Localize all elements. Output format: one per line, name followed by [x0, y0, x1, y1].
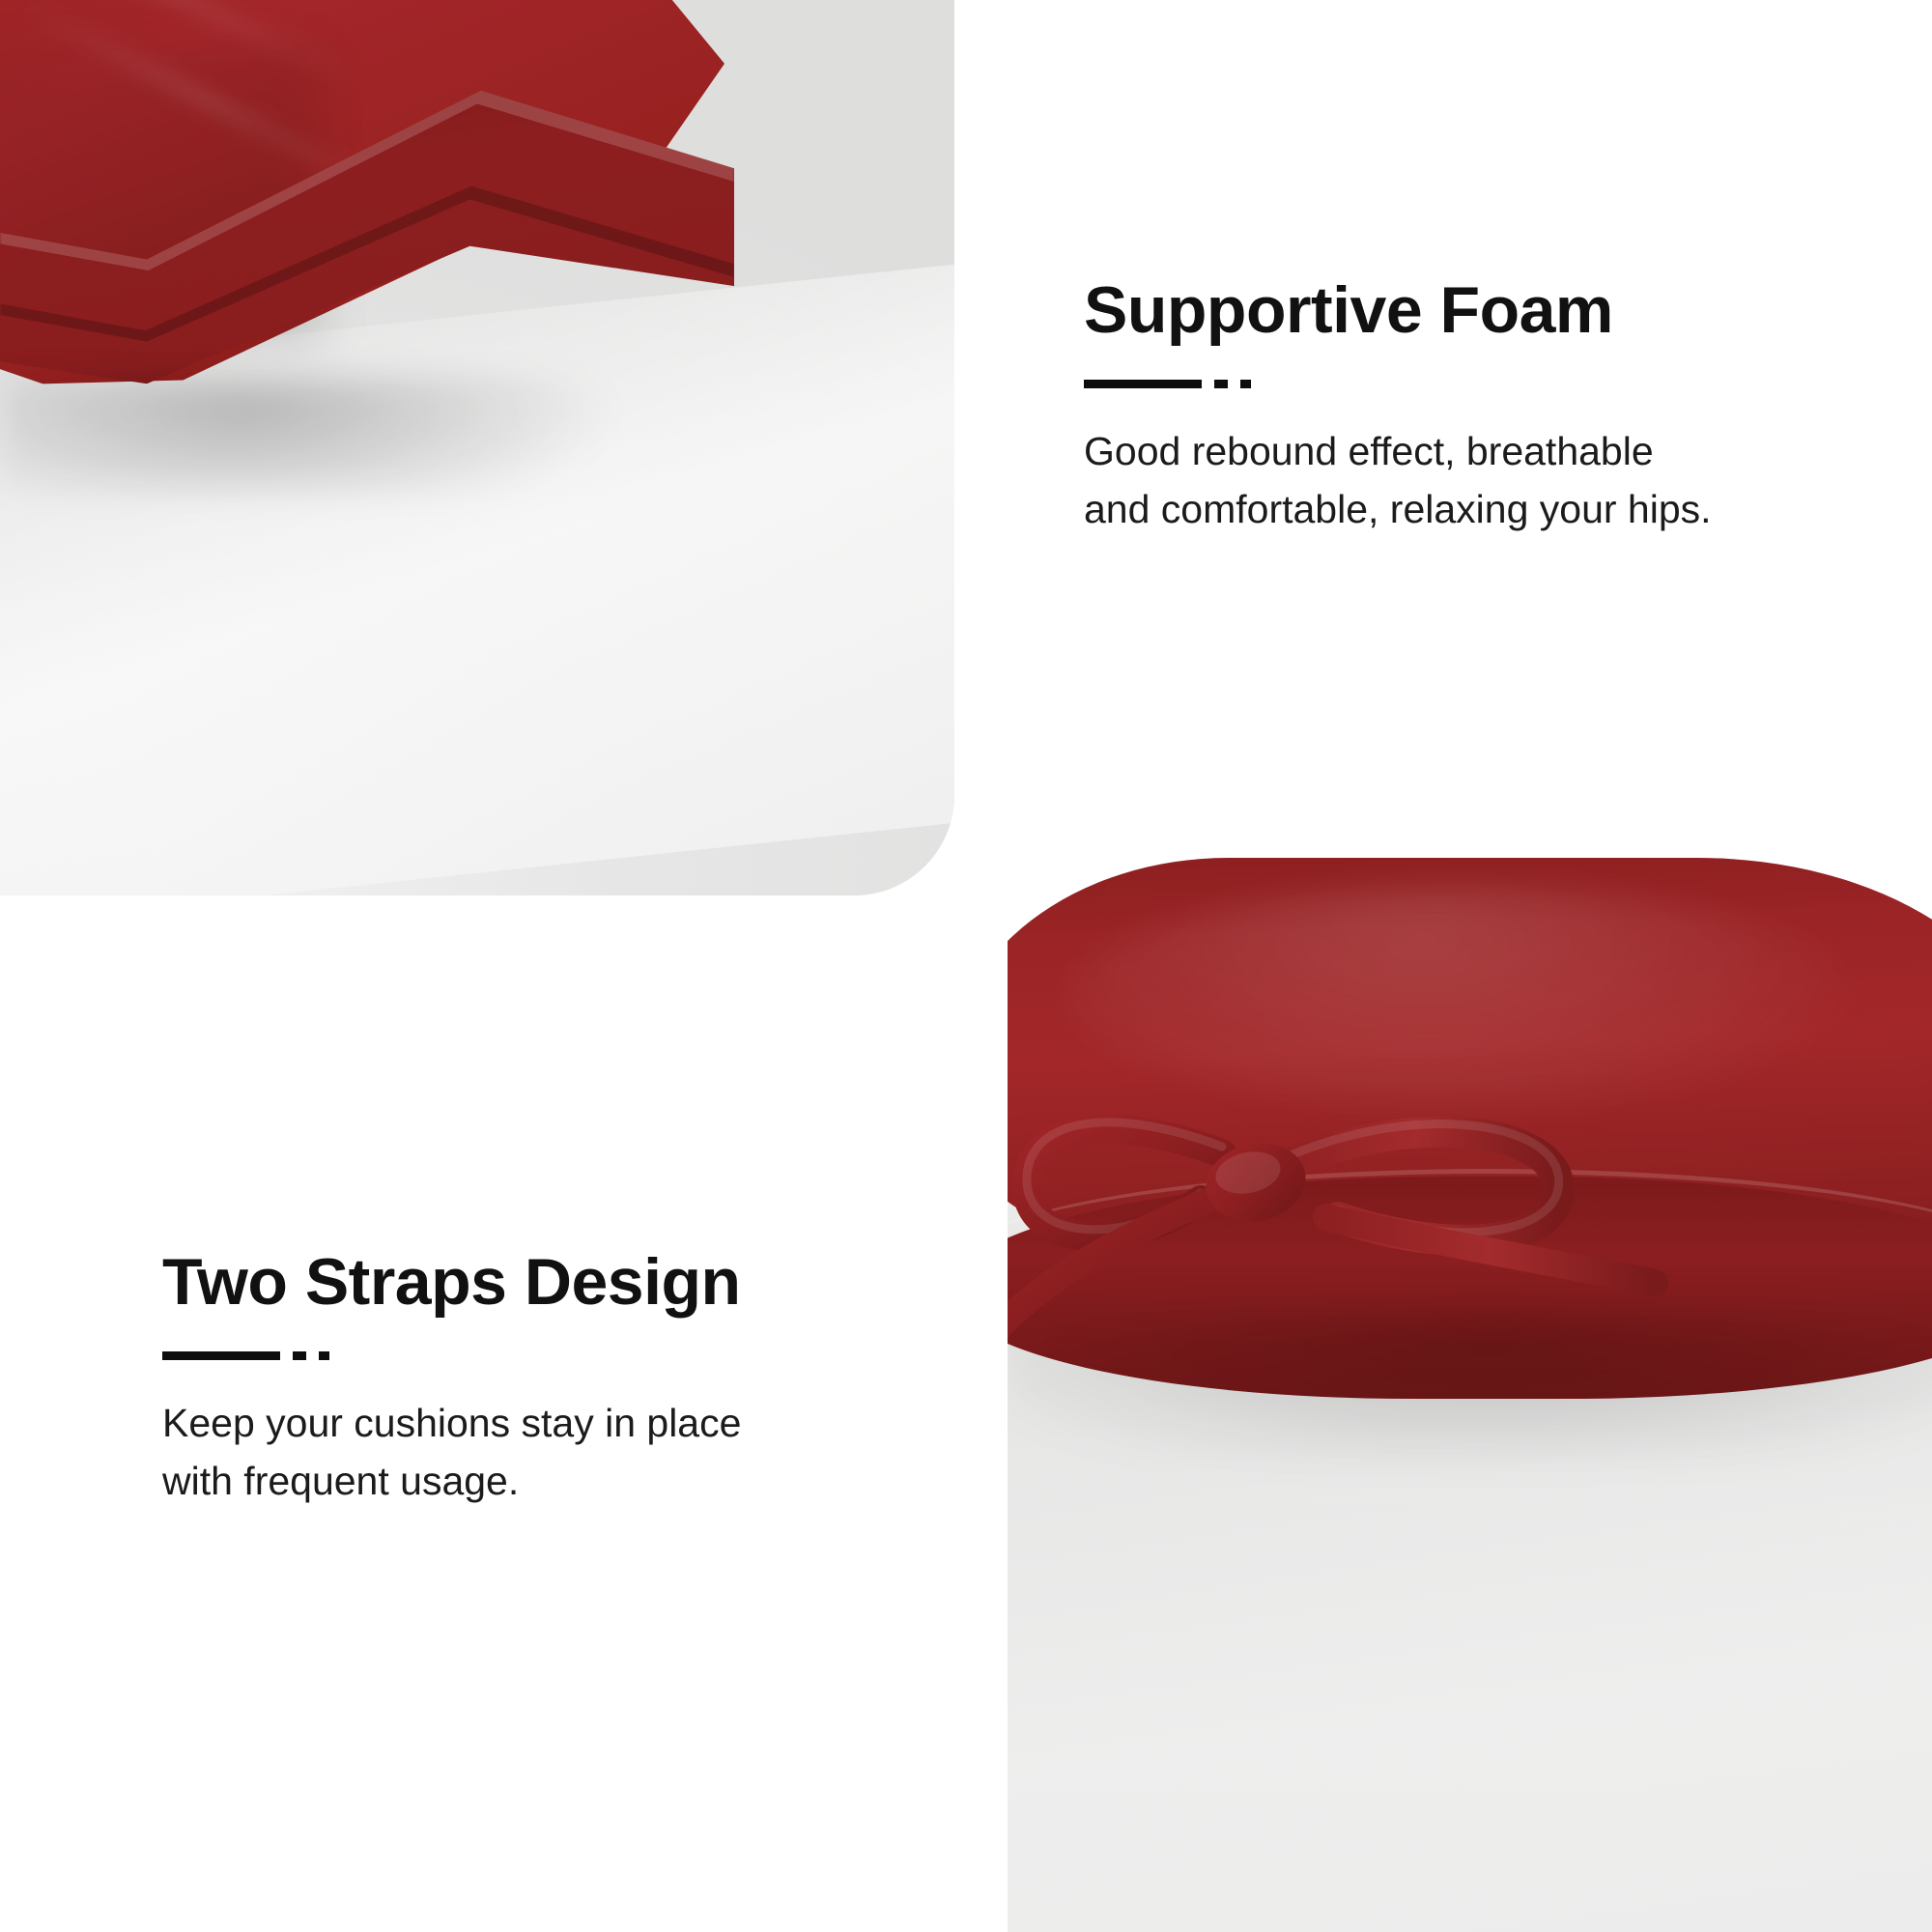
- feature-body-line: with frequent usage.: [162, 1453, 741, 1510]
- divider-dash: [293, 1351, 306, 1360]
- heading-divider: [162, 1351, 741, 1360]
- feature-heading: Two Straps Design: [162, 1248, 741, 1317]
- feature-body: Keep your cushions stay in place with fr…: [162, 1395, 741, 1510]
- cushion-tie-straps: [1008, 964, 1751, 1370]
- foam-slab-product: [0, 0, 792, 628]
- feature-body-line: Keep your cushions stay in place: [162, 1395, 741, 1452]
- feature-block-two-straps: Two Straps Design Keep your cushions sta…: [162, 1248, 741, 1510]
- divider-dash: [319, 1351, 329, 1360]
- feature-block-supportive-foam: Supportive Foam Good rebound effect, bre…: [1084, 276, 1712, 538]
- divider-dash: [1214, 380, 1228, 388]
- feature-heading: Supportive Foam: [1084, 276, 1712, 345]
- divider-bar: [1084, 380, 1202, 388]
- divider-dash: [1240, 380, 1251, 388]
- divider-bar: [162, 1351, 280, 1360]
- feature-body: Good rebound effect, breathable and comf…: [1084, 423, 1712, 538]
- heading-divider: [1084, 380, 1712, 388]
- foam-slab-contact-shadow: [0, 377, 618, 493]
- product-image-cushion-straps: [1008, 848, 1932, 1932]
- feature-body-line: Good rebound effect, breathable: [1084, 423, 1712, 480]
- feature-body-line: and comfortable, relaxing your hips.: [1084, 481, 1712, 538]
- product-image-foam-slab: [0, 0, 954, 895]
- infographic-canvas: Supportive Foam Good rebound effect, bre…: [0, 0, 1932, 1932]
